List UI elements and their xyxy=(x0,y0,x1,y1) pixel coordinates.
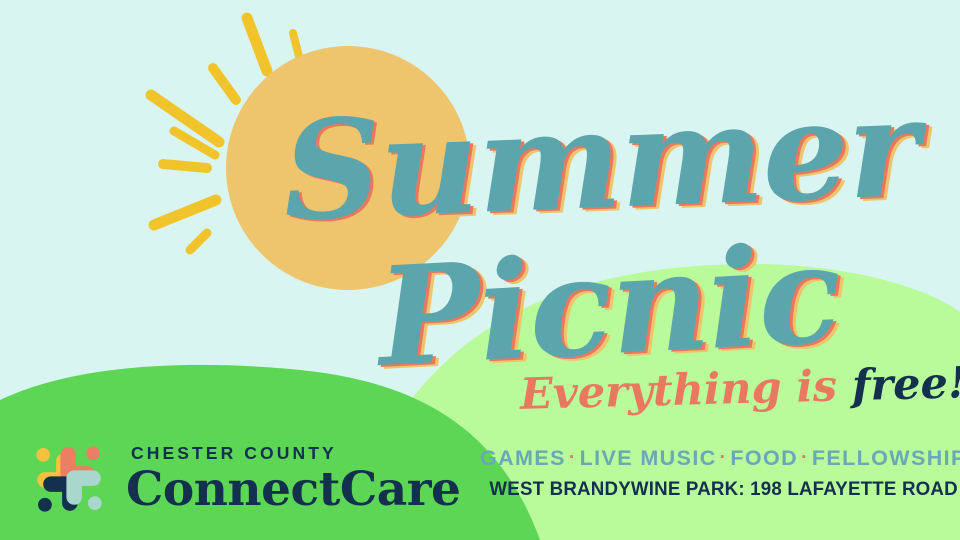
poster-canvas: Summer Picnic Everything is free! GAMES·… xyxy=(0,0,960,540)
connectcare-logo: CHESTER COUNTY ConnectCare xyxy=(26,436,460,522)
sun-disc xyxy=(226,46,470,290)
logo-arm-bottom-right xyxy=(66,470,101,510)
feature-separator-icon: · xyxy=(801,447,809,468)
feature-item: FELLOWSHIP xyxy=(812,446,960,470)
sun-ray xyxy=(163,164,207,168)
logo-name-text: ConnectCare xyxy=(126,466,460,513)
feature-item: FOOD xyxy=(730,446,798,470)
feature-separator-icon: · xyxy=(720,447,728,468)
logo-eyebrow-text: CHESTER COUNTY xyxy=(131,445,460,463)
connectcare-pinwheel-logo-icon xyxy=(26,436,112,522)
venue-address: WEST BRANDYWINE PARK: 198 LAFAYETTE ROAD… xyxy=(489,478,940,501)
feature-separator-icon: · xyxy=(569,447,577,468)
feature-item: GAMES xyxy=(480,446,566,470)
feature-item: LIVE MUSIC xyxy=(580,446,717,470)
logo-wordmark: CHESTER COUNTY ConnectCare xyxy=(126,445,460,513)
features-list: GAMES·LIVE MUSIC·FOOD·FELLOWSHIP xyxy=(480,446,950,471)
